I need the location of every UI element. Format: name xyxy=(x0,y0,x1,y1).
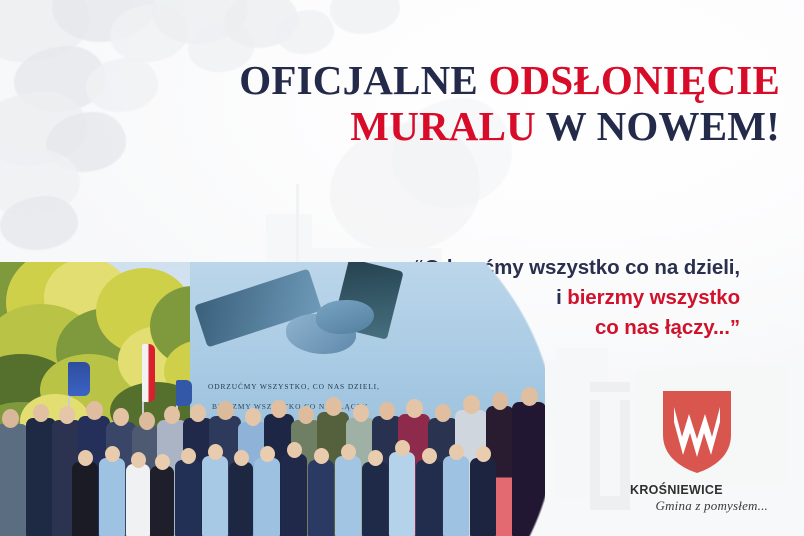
crowd-person-head xyxy=(139,412,155,430)
ceremony-photo-content: ODRZUĆMY WSZYSTKO, CO NAS DZIELI, BIERZM… xyxy=(0,262,545,536)
crowd-person-head xyxy=(406,399,423,418)
crowd-child xyxy=(202,456,228,536)
crowd-child xyxy=(175,460,201,536)
headline-word-muralu: MURALU xyxy=(350,103,545,149)
crowd-child xyxy=(416,460,442,536)
crowd-child xyxy=(126,464,150,536)
crowd-child xyxy=(308,460,334,536)
crowd-child xyxy=(150,466,174,536)
crowd-person xyxy=(512,402,545,536)
headline-word-odsloniecie: ODSŁONIĘCIE xyxy=(488,57,780,103)
quote-line-2-prefix: i xyxy=(556,286,567,309)
crowd-person-head xyxy=(245,408,261,426)
crowd-child-head xyxy=(368,450,383,466)
crowd-child-head xyxy=(314,448,329,464)
crowd-child-head xyxy=(208,444,223,460)
crowd-child-head xyxy=(155,454,170,470)
crowd-person-head xyxy=(59,406,75,424)
crowd-person-head xyxy=(492,392,508,410)
crowd-person-head xyxy=(2,409,19,428)
crowd-child-head xyxy=(287,442,302,458)
crowd-child xyxy=(389,452,415,536)
poster-canvas: OFICJALNE ODSŁONIĘCIE MURALU W NOWEM! “O… xyxy=(0,0,804,536)
crowd-child xyxy=(99,458,125,536)
background-leaf-icon xyxy=(276,10,334,54)
crowd-child-head xyxy=(260,446,275,462)
crowd-child-head xyxy=(131,452,146,468)
crowd-person-head xyxy=(113,408,129,426)
crowd-person-head xyxy=(521,387,538,406)
crowd-person-head xyxy=(435,404,451,422)
crowd-person-head xyxy=(190,404,206,422)
shield-icon xyxy=(661,389,733,475)
page-title: OFICJALNE ODSŁONIĘCIE MURALU W NOWEM! xyxy=(140,57,780,149)
crowd-child xyxy=(335,456,361,536)
crowd-person-head xyxy=(325,397,342,416)
coat-of-arms xyxy=(612,389,782,475)
crowd-person-head xyxy=(379,402,395,420)
crowd-child xyxy=(443,456,469,536)
crowd-child xyxy=(229,462,253,536)
municipality-name: KROŚNIEWICE xyxy=(612,483,782,497)
crowd-child-head xyxy=(449,444,464,460)
quote-line-3: co nas łączy...” xyxy=(595,316,740,339)
crowd-child xyxy=(470,458,496,536)
crowd-child-head xyxy=(181,448,196,464)
crowd-child xyxy=(254,458,280,536)
crowd-person-head xyxy=(33,404,49,422)
crowd-person-head xyxy=(353,404,369,422)
crowd-person-head xyxy=(217,401,234,420)
crowd-child-head xyxy=(341,444,356,460)
quote-line-2-rest: bierzmy wszystko xyxy=(567,286,740,309)
crowd-person-head xyxy=(271,400,287,418)
crowd-person-head xyxy=(298,406,314,424)
ceremony-photo: ODRZUĆMY WSZYSTKO, CO NAS DZIELI, BIERZM… xyxy=(0,262,545,536)
headline-word-oficjalne: OFICJALNE xyxy=(239,57,488,103)
municipality-slogan: Gmina z pomysłem... xyxy=(612,498,782,514)
crowd-child-head xyxy=(476,446,491,462)
municipality-logo: KROŚNIEWICE Gmina z pomysłem... xyxy=(612,389,782,514)
crowd-child-head xyxy=(234,450,249,466)
crowd-child xyxy=(72,462,98,536)
crowd-child-head xyxy=(105,446,120,462)
crowd-child xyxy=(362,462,388,536)
headline-word-w-nowem: W NOWEM! xyxy=(546,103,780,149)
photo-crowd xyxy=(0,361,545,536)
crowd-child-head xyxy=(422,448,437,464)
crowd-person xyxy=(0,424,28,536)
crowd-child xyxy=(281,454,307,536)
crowd-person-head xyxy=(164,406,180,424)
crowd-person-head xyxy=(86,401,103,420)
crowd-child-head xyxy=(395,440,410,456)
crowd-child-head xyxy=(78,450,93,466)
crowd-person-head xyxy=(463,395,480,414)
background-leaf-icon xyxy=(330,0,400,34)
